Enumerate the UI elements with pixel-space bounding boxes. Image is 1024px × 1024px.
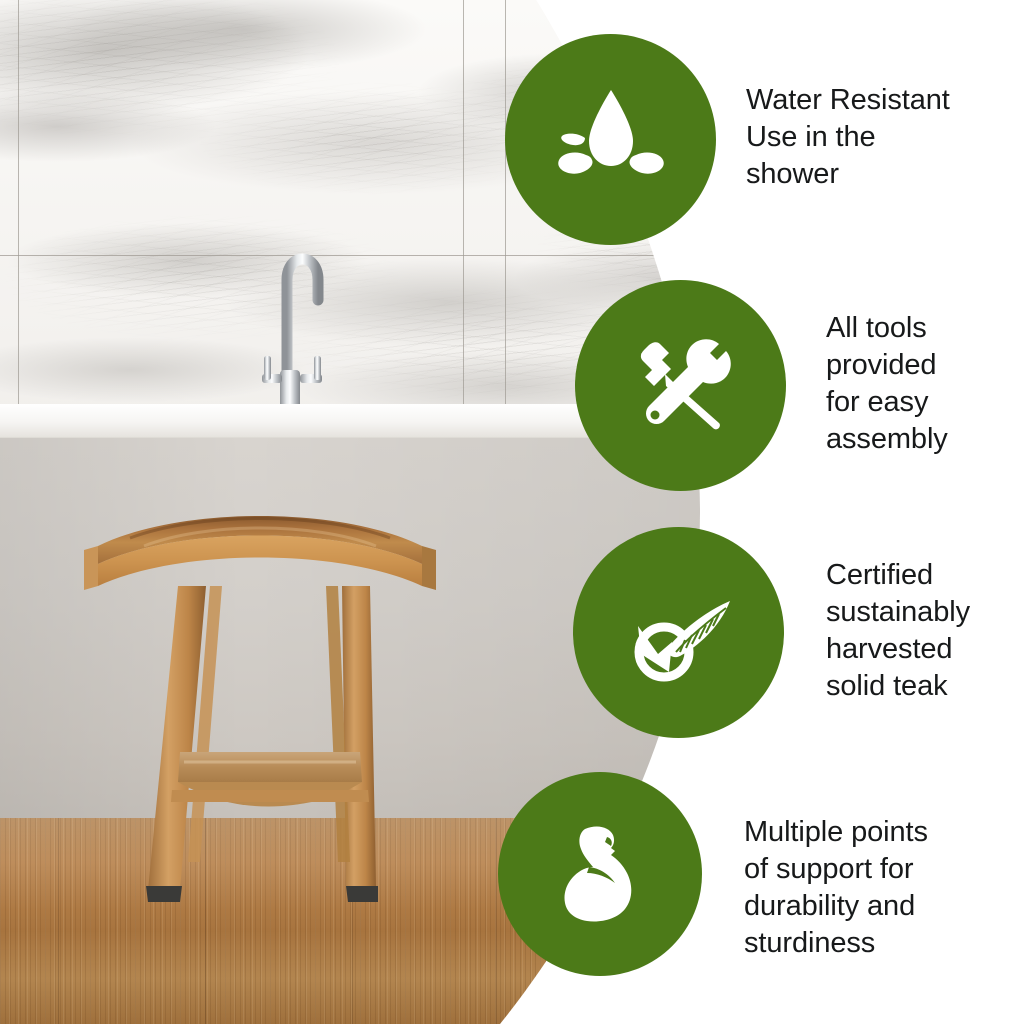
feature-icon-badge[interactable] [505, 34, 716, 245]
hammer-wrench-icon [619, 324, 743, 448]
feature-label: Certified sustainably harvested solid te… [826, 557, 1024, 705]
flexed-bicep-icon [541, 815, 659, 933]
water-drop-icon [549, 78, 673, 202]
feature-icon-badge[interactable] [573, 527, 784, 738]
feature-label: Multiple points of support for durabilit… [744, 814, 1024, 962]
feature-label: All tools provided for easy assembly [826, 310, 1024, 458]
feature-icon-badge[interactable] [498, 772, 702, 976]
leaf-check-icon [614, 568, 744, 698]
feature-label: Water Resistant Use in the shower [746, 82, 1018, 193]
feature-icon-badge[interactable] [575, 280, 786, 491]
feature-list: Water Resistant Use in the shower [0, 0, 1024, 1024]
infographic-canvas: EcoDecors Water Resistant Use in the sho… [0, 0, 1024, 1024]
